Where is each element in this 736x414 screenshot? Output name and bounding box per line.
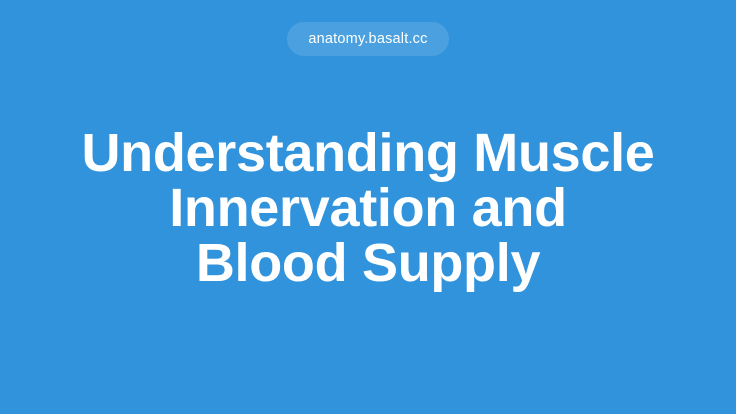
headline-wrap: Understanding Muscle Innervation and Blo… bbox=[0, 126, 736, 291]
site-badge[interactable]: anatomy.basalt.cc bbox=[287, 22, 448, 56]
page-title: Understanding Muscle Innervation and Blo… bbox=[48, 126, 688, 291]
site-badge-label: anatomy.basalt.cc bbox=[308, 32, 427, 47]
badge-row: anatomy.basalt.cc bbox=[0, 22, 736, 56]
title-card: anatomy.basalt.cc Understanding Muscle I… bbox=[0, 0, 736, 414]
